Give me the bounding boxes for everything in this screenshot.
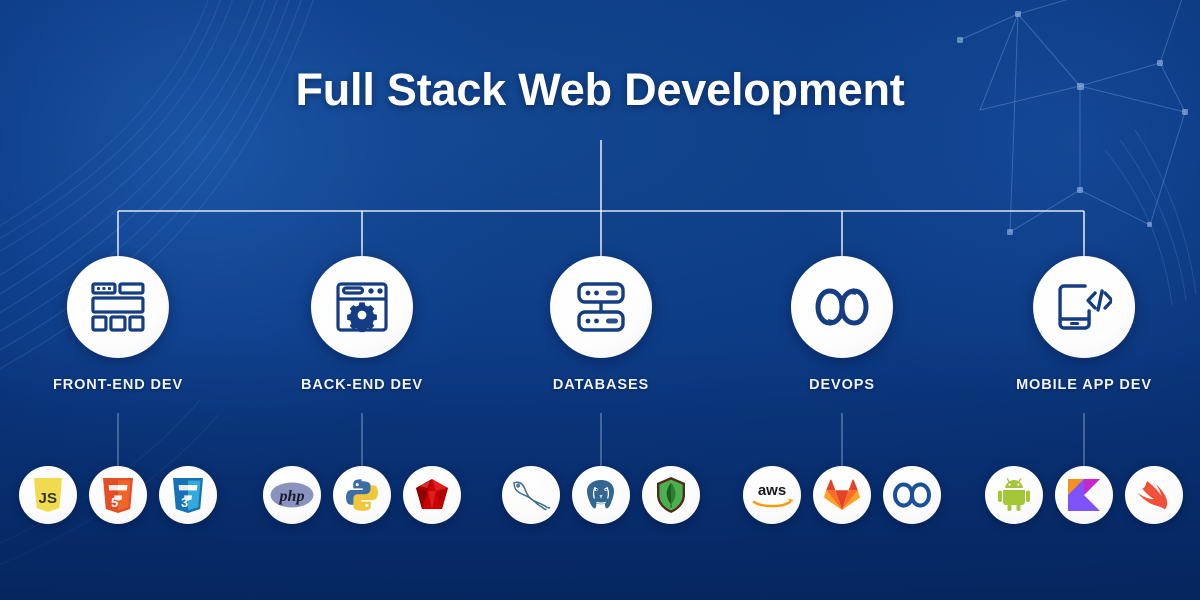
tech-badge-swift[interactable] [1125,466,1183,524]
branch-label: DATABASES [550,377,652,393]
android-icon [997,478,1031,512]
aws-icon: aws [749,480,795,510]
tech-badge-gitlab[interactable] [813,466,871,524]
svg-text:5: 5 [111,495,118,510]
tech-badge-html5[interactable]: 5 [89,466,147,524]
tech-badge-ci-cd-loop[interactable] [883,466,941,524]
ci-cd-loop-icon [892,480,932,510]
tech-group-mobile-app [985,466,1183,524]
html5-icon: 5 [101,476,135,514]
mysql-icon [511,479,551,511]
postgresql-icon [583,477,619,513]
branch-databases[interactable]: DATABASES [550,256,652,393]
branch-icon-bubble[interactable] [791,256,893,358]
branch-label: FRONT-END DEV [53,377,183,393]
mobile-code-icon [1056,281,1112,333]
branch-icon-bubble[interactable] [67,256,169,358]
tech-badge-android[interactable] [985,466,1043,524]
tech-badge-python[interactable] [333,466,391,524]
tech-group-back-end: php [263,466,461,524]
tech-badge-postgresql[interactable] [572,466,630,524]
svg-text:php: php [278,488,305,505]
ruby-icon [414,478,450,512]
gitlab-icon [824,478,860,512]
branch-label: DEVOPS [791,377,893,393]
svg-text:S: S [47,490,57,507]
tech-badge-ruby[interactable] [403,466,461,524]
browser-gear-icon [335,281,389,333]
css3-icon: 3 [171,476,205,514]
branch-label: BACK-END DEV [301,377,423,393]
technology-badge-rows: JS 5 3 [0,466,1200,536]
branch-front-end[interactable]: FRONT-END DEV [53,256,183,393]
branch-icon-bubble[interactable] [1033,256,1135,358]
svg-text:J: J [39,490,47,507]
tech-badge-mongodb[interactable] [642,466,700,524]
infographic-canvas: Full Stack Web Development [0,0,1200,600]
php-icon: php [270,482,314,508]
tech-badge-aws[interactable]: aws [743,466,801,524]
tech-badge-php[interactable]: php [263,466,321,524]
javascript-icon: JS [31,476,65,514]
branch-mobile-app[interactable]: MOBILE APP DEV [1016,256,1152,393]
svg-text:aws: aws [758,482,786,499]
tech-group-databases [502,466,700,524]
tech-badge-kotlin[interactable] [1055,466,1113,524]
infinity-loop-icon [814,285,870,329]
svg-text:3: 3 [181,495,188,510]
tech-group-front-end: JS 5 3 [19,466,217,524]
branch-label: MOBILE APP DEV [1016,377,1152,393]
python-icon [345,478,379,512]
branch-icon-bubble[interactable] [311,256,413,358]
tech-badge-mysql[interactable] [502,466,560,524]
branch-devops[interactable]: DEVOPS [791,256,893,393]
database-server-icon [576,281,626,333]
tech-group-devops: aws [743,466,941,524]
mongodb-icon [655,476,687,514]
tech-badge-css3[interactable]: 3 [159,466,217,524]
browser-layout-icon [90,281,146,333]
branch-back-end[interactable]: BACK-END DEV [301,256,423,393]
branch-icon-bubble[interactable] [550,256,652,358]
kotlin-icon [1067,478,1101,512]
swift-icon [1137,479,1171,511]
tech-badge-javascript[interactable]: JS [19,466,77,524]
